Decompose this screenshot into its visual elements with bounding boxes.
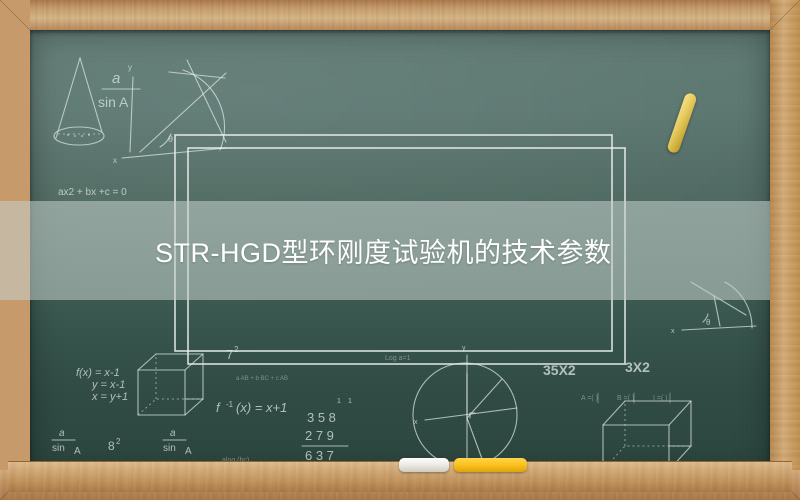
- svg-text:θ: θ: [706, 318, 711, 327]
- cube-figure-left: [138, 354, 203, 415]
- label-35x2: 35X2: [543, 362, 576, 378]
- quadratic-equation: ax2 + bx +c = 0: [58, 187, 127, 198]
- svg-text:a: a: [59, 428, 65, 439]
- svg-text:sin: sin: [163, 443, 176, 454]
- svg-text:x: x: [414, 419, 418, 426]
- svg-text:θ: θ: [168, 134, 173, 144]
- svg-text:A =( ): A =( ): [581, 395, 598, 402]
- svg-text:f: f: [216, 400, 221, 415]
- svg-text:a: a: [170, 428, 176, 439]
- svg-text:3 5 8: 3 5 8: [307, 410, 336, 425]
- page-title: STR-HGD型环刚度试验机的技术参数: [155, 231, 612, 270]
- log-label: Log a=1: [385, 355, 411, 362]
- frame-right-rail: [770, 0, 800, 500]
- svg-text:y: y: [128, 63, 132, 72]
- small-vector-equation: a AB + b BC + c AB: [236, 376, 288, 382]
- label-3x2: 3X2: [625, 359, 650, 375]
- function-equations: f(x) = x-1 y = x-1 x = y+1: [76, 367, 128, 403]
- fraction-a-over-sinA-bottomleft: a sin A: [52, 428, 81, 457]
- svg-text:7: 7: [226, 347, 233, 362]
- svg-text:x: x: [671, 328, 675, 335]
- svg-text:a: a: [112, 70, 120, 87]
- fraction-a-over-sinA-topleft: a sin A: [98, 70, 140, 110]
- addition-column: 3 5 8 2 7 9 6 3 7 1 1: [302, 398, 352, 463]
- cube-figure-right: [603, 401, 691, 470]
- svg-text:A: A: [74, 446, 81, 457]
- svg-text:(x) = x+1: (x) = x+1: [236, 400, 287, 415]
- yellow-chalk-stick: [454, 458, 527, 472]
- fraction-a-over-sinA-bottommid: a sin A: [163, 428, 192, 457]
- chalkboard-banner: .ch { fill:none; stroke:#dfe7e3; stroke-…: [0, 0, 800, 500]
- svg-text:x = y+1: x = y+1: [91, 391, 128, 403]
- svg-text:2: 2: [116, 437, 121, 446]
- svg-text:f(x) = x-1: f(x) = x-1: [76, 367, 120, 379]
- frame-top-rail: [0, 0, 800, 30]
- axis-angle-figure-topleft: y x θ: [113, 60, 226, 165]
- svg-text:2: 2: [234, 345, 239, 354]
- cone-figure: [54, 58, 104, 145]
- svg-text:y = x-1: y = x-1: [91, 379, 125, 391]
- svg-text:sin A: sin A: [98, 94, 129, 110]
- inverse-function-equation: f -1 (x) = x+1: [216, 400, 287, 415]
- white-chalk-stick: [399, 458, 449, 472]
- svg-text:-1: -1: [226, 400, 234, 409]
- svg-text:A: A: [185, 446, 192, 457]
- title-overlay-band: STR-HGD型环刚度试验机的技术参数: [0, 201, 770, 300]
- svg-text:y: y: [462, 345, 466, 352]
- svg-text:2 7 9: 2 7 9: [305, 428, 334, 443]
- svg-text:8: 8: [108, 439, 115, 453]
- svg-text:1: 1: [348, 398, 352, 405]
- svg-text:sin: sin: [52, 443, 65, 454]
- svg-text:1: 1: [337, 398, 341, 405]
- svg-text:x: x: [113, 156, 117, 165]
